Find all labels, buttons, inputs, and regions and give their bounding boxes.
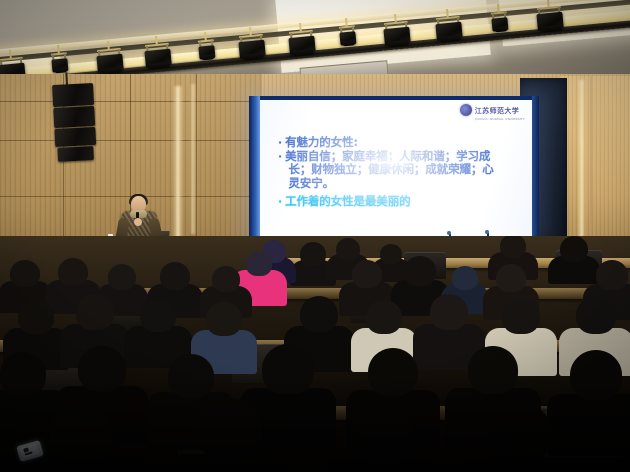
audience-member-head <box>140 298 176 332</box>
audience-member-head <box>500 236 526 258</box>
audience-member-head <box>246 252 272 276</box>
audience-member-head <box>262 344 314 394</box>
presentation-slide: 江苏师范大学 JIANGSU NORMAL UNIVERSITY ·有魅力的女性… <box>260 100 532 240</box>
audience-member-head <box>78 346 126 392</box>
audience-member-head <box>300 242 326 266</box>
audience-member-head <box>486 402 552 464</box>
audience-member-head <box>108 264 136 290</box>
audience-member-head <box>18 300 54 334</box>
slide-line-text: 长；财物独立；健康休闲；成就荣耀；心 <box>288 163 493 177</box>
wall-light-wash <box>578 80 585 240</box>
audience-member-head <box>502 298 540 334</box>
screen-border-right <box>532 96 539 244</box>
audience-member-head <box>352 406 414 464</box>
audience-member-head <box>206 302 242 336</box>
slide-bullet-line: ·工作着的女性是最美丽的 <box>278 195 518 209</box>
audience-member-head <box>496 264 526 292</box>
slide-line-text: 有魅力的女性: <box>285 136 358 150</box>
audience-member-head <box>452 266 478 290</box>
university-logo: 江苏师范大学 JIANGSU NORMAL UNIVERSITY <box>460 103 525 116</box>
microphone-head <box>447 231 451 235</box>
audience-member-head <box>168 354 214 398</box>
bullet-icon: · <box>278 136 282 150</box>
smartphone-screen <box>20 443 39 458</box>
lecture-hall-photo: 江苏师范大学 JIANGSU NORMAL UNIVERSITY ·有魅力的女性… <box>0 0 630 472</box>
audience-member-head <box>76 294 114 330</box>
audience-member-head <box>570 350 622 400</box>
projection-screen: 江苏师范大学 JIANGSU NORMAL UNIVERSITY ·有魅力的女性… <box>249 96 539 244</box>
wall-seam <box>0 101 250 102</box>
university-name: 江苏师范大学 <box>475 107 519 115</box>
audience-member-head <box>300 296 338 332</box>
audience-member-head <box>196 398 262 460</box>
screen-border-left <box>249 96 260 244</box>
audience-member-head <box>560 236 588 262</box>
audience-member-head <box>0 352 46 396</box>
bullet-indent <box>278 177 285 191</box>
bullet-icon: · <box>278 150 282 164</box>
spotlight-lens <box>201 54 214 60</box>
university-name-english: JIANGSU NORMAL UNIVERSITY <box>475 117 525 121</box>
audience-member-head <box>468 346 518 394</box>
wall-seam <box>0 140 250 141</box>
audience-member-head <box>352 260 382 288</box>
slide-bullet-line: 灵安宁。 <box>278 177 518 191</box>
audience-area <box>0 236 630 472</box>
bullet-indent <box>278 163 285 177</box>
slide-bullet-line: 长；财物独立；健康休闲；成就荣耀；心 <box>278 163 518 177</box>
audience-member-head <box>366 300 402 334</box>
audience-member-head <box>50 404 112 462</box>
wall-light-wash <box>190 84 196 234</box>
audience-member-head <box>160 262 190 290</box>
audience-member-head <box>10 260 40 287</box>
audience-member-head <box>430 294 468 330</box>
wall-light-wash <box>173 86 183 246</box>
audience-member-head <box>380 244 402 264</box>
audience-member-head <box>404 256 436 286</box>
audience-member-head <box>58 258 88 286</box>
microphone-head <box>485 230 489 234</box>
wall-pilaster <box>592 76 630 248</box>
presenter-hand <box>134 218 142 226</box>
audience-member-torso <box>547 394 630 456</box>
slide-text-block: ·有魅力的女性:·美丽自信；家庭幸福；人际和谐；学习成 长；财物独立；健康休闲；… <box>278 136 518 209</box>
slide-bullet-line: ·有魅力的女性: <box>278 136 518 150</box>
slide-line-text: 灵安宁。 <box>288 177 334 191</box>
bullet-icon: · <box>278 195 282 209</box>
audience-member-head <box>212 266 240 292</box>
audience-member-head <box>336 238 360 260</box>
audience-member-head <box>576 296 616 334</box>
line-array-speaker <box>52 83 97 161</box>
audience-member-head <box>368 348 418 396</box>
slide-line-text: 工作着的女性是最美丽的 <box>285 195 410 209</box>
university-emblem-icon <box>460 104 472 116</box>
audience-member-head <box>596 260 628 290</box>
